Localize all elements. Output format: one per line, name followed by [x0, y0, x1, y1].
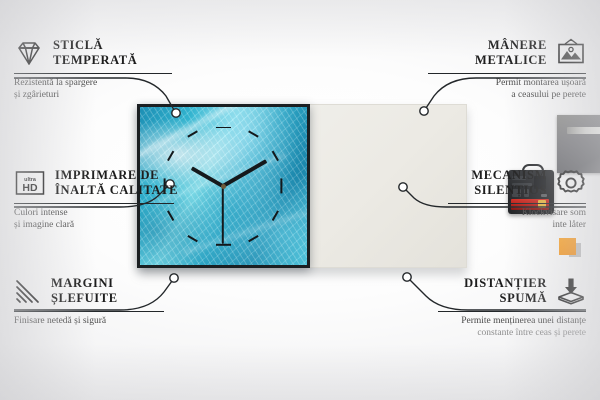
foam-press-icon — [556, 277, 586, 305]
diamond-icon — [14, 39, 44, 67]
callout-sub-line1: Klockvisare som — [448, 208, 586, 220]
callout-rule — [428, 73, 586, 74]
callout-sub-line1: Permit montarea ușoară — [426, 78, 586, 90]
callout-title-line1: IMPRIMARE DE — [55, 168, 178, 183]
callout-title-line1: DISTANȚIER — [464, 276, 547, 291]
callout-sub-line2: și imagine clară — [14, 220, 176, 232]
callout-sub-line2: constante între ceas și perete — [438, 328, 586, 340]
clock-second-hand — [222, 186, 224, 244]
callout-manere-metalice[interactable]: MÂNERE METALICE Permit montarea ușoară a… — [426, 38, 586, 101]
callout-sub-line1: Culori intense — [14, 208, 176, 220]
callout-sticla-temperata[interactable]: STICLĂ TEMPERATĂ Rezistentă la spargere … — [14, 38, 174, 101]
callout-title-line1: MÂNERE — [475, 38, 547, 53]
callout-distantier-spuma[interactable]: DISTANȚIER SPUMĂ Permite menținerea unei… — [438, 276, 586, 339]
clock-tick — [216, 127, 231, 129]
beveled-edge-icon — [14, 278, 42, 304]
callout-title-line1: STICLĂ — [53, 38, 137, 53]
callout-title-line2: SILENȚIOS — [471, 183, 547, 198]
callout-margini-slefuite[interactable]: MARGINI ȘLEFUITE Finisare netedă și sigu… — [14, 276, 166, 328]
callout-title-line2: METALICE — [475, 53, 547, 68]
callout-title-line1: MECANISM — [471, 168, 547, 183]
ultra-hd-icon: ultra HD — [14, 169, 46, 197]
orange-foam-spacer — [559, 238, 576, 255]
callout-title-line1: MARGINI — [51, 276, 118, 291]
gear-icon — [556, 168, 586, 198]
infographic-canvas: STICLĂ TEMPERATĂ Rezistentă la spargere … — [0, 0, 600, 400]
picture-frame-hanger-icon — [556, 38, 586, 68]
callout-title-line2: ȘLEFUITE — [51, 291, 118, 306]
callout-rule — [438, 311, 586, 312]
svg-text:HD: HD — [22, 182, 38, 194]
callout-title-line2: SPUMĂ — [464, 291, 547, 306]
callout-mecanism-silentios[interactable]: MECANISM SILENȚIOS Klockvisare som inte … — [448, 168, 586, 231]
callout-title-line2: ÎNALTĂ CALITATE — [55, 183, 178, 198]
clock-back-panel — [304, 104, 467, 268]
callout-sub-line1: Rezistentă la spargere — [14, 78, 174, 90]
callout-sub-line1: Permite menținerea unei distanțe — [438, 316, 586, 328]
product-assembly — [137, 104, 467, 271]
clock-tick — [216, 244, 231, 246]
callout-sub-line1: Finisare netedă și sigură — [14, 316, 166, 328]
callout-title-line2: TEMPERATĂ — [53, 53, 137, 68]
clock-center-cap — [221, 184, 226, 189]
callout-rule — [14, 311, 164, 312]
callout-rule — [448, 203, 586, 204]
callout-rule — [14, 73, 172, 74]
callout-imprimare-calitate[interactable]: ultra HD IMPRIMARE DE ÎNALTĂ CALITATE Cu… — [14, 168, 176, 231]
callout-sub-line2: și zgârieturi — [14, 90, 174, 102]
metal-hanger-plate — [557, 115, 600, 173]
clock-tick — [281, 178, 283, 193]
callout-sub-line2: a ceasului pe perete — [426, 90, 586, 102]
plate-slot — [567, 127, 600, 134]
callout-sub-line2: inte låter — [448, 220, 586, 232]
callout-rule — [14, 203, 174, 204]
